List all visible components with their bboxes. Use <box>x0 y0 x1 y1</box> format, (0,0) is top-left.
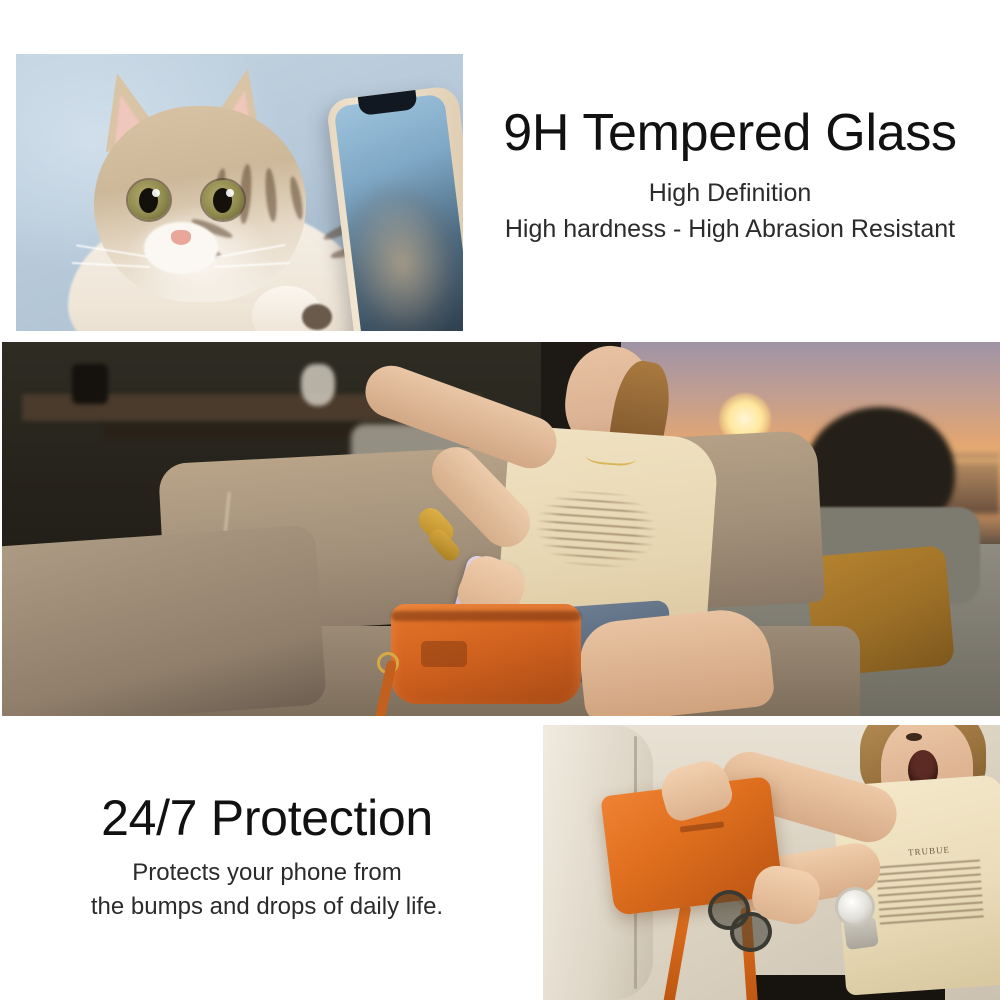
decor-jar <box>72 364 108 404</box>
image-panel-couch-sunset <box>2 342 1000 716</box>
infographic-canvas: TRUBUE 9H Tempered Glass High Definition… <box>0 0 1000 1000</box>
tank-top-print <box>533 488 658 578</box>
cat-eye-right <box>202 180 244 220</box>
cat-nose <box>171 230 191 245</box>
decor-vase <box>301 364 335 406</box>
handbag-leather-tag <box>421 641 467 667</box>
cat-stripe <box>288 176 305 221</box>
cat-eye-glint <box>226 189 234 197</box>
cat-head <box>94 106 306 302</box>
feature-text-protection: 24/7 Protection Protects your phone from… <box>22 792 512 924</box>
cat-eye-left <box>128 180 170 220</box>
couch-armrest <box>2 525 327 716</box>
tempered-glass-subline-1: High Definition <box>470 176 990 212</box>
image-panel-handbag-closeup: TRUBUE <box>543 725 1000 1000</box>
cat-stripe <box>264 168 279 223</box>
protection-subline-1: Protects your phone from <box>22 856 512 890</box>
cat-paw-pad <box>302 304 332 330</box>
wristwatch <box>838 890 872 924</box>
tank-top-print-body <box>876 859 984 928</box>
tempered-glass-headline: 9H Tempered Glass <box>470 106 990 160</box>
feature-text-tempered-glass: 9H Tempered Glass High Definition High h… <box>470 106 990 247</box>
phone-screen <box>333 94 463 331</box>
image-panel-cat-and-phone <box>16 54 463 331</box>
handbag-opening <box>391 611 581 621</box>
cat-eye-glint <box>152 189 160 197</box>
protection-subline-2: the bumps and drops of daily life. <box>22 890 512 924</box>
tempered-glass-subline-2: High hardness - High Abrasion Resistant <box>470 212 990 248</box>
screen-reflection <box>333 165 463 331</box>
protection-headline: 24/7 Protection <box>22 792 512 844</box>
